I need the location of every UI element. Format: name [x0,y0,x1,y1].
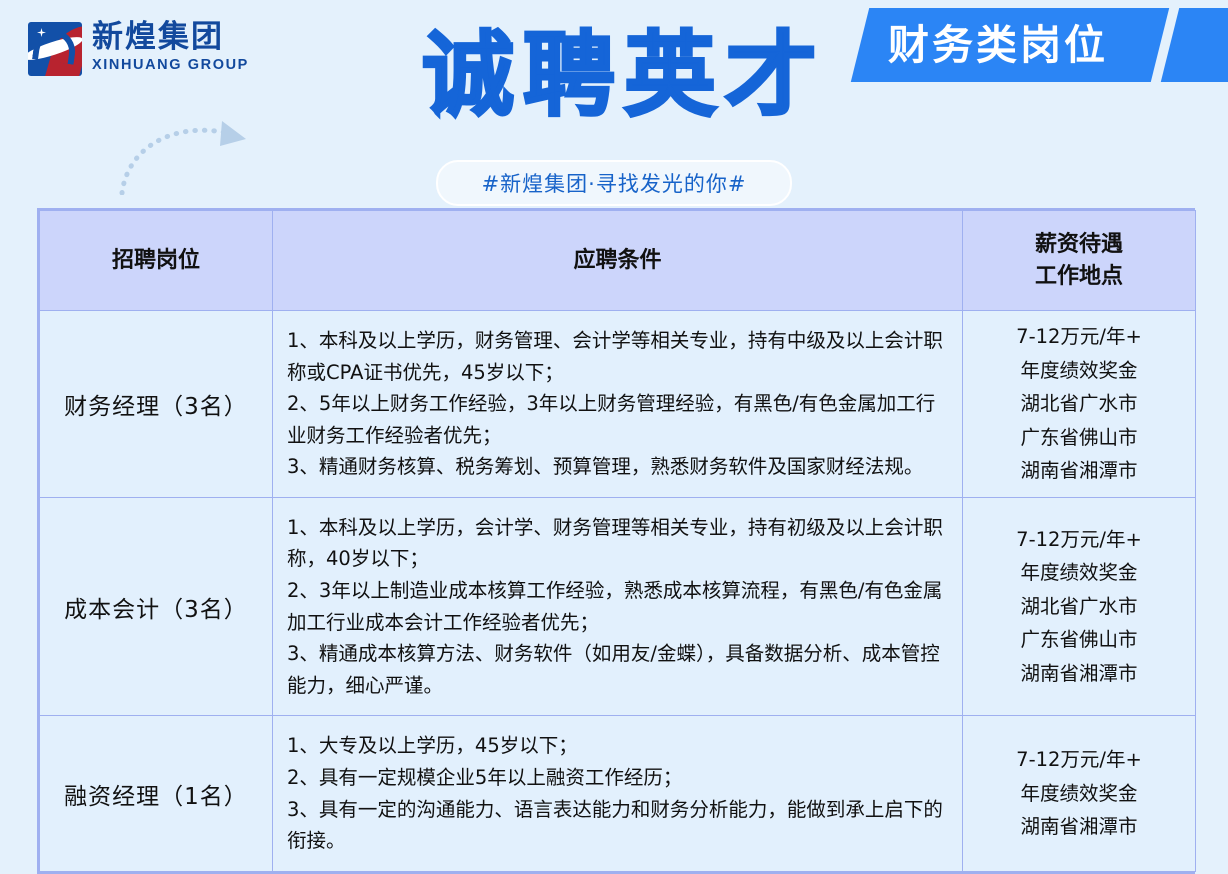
jobs-table-body: 财务经理（3名） 1、本科及以上学历，财务管理、会计学等相关专业，持有中级及以上… [40,311,1196,872]
condition-line: 3、精通财务核算、税务筹划、预算管理，熟悉财务软件及国家财经法规。 [287,451,950,483]
table-row: 财务经理（3名） 1、本科及以上学历，财务管理、会计学等相关专业，持有中级及以上… [40,311,1196,498]
header-salary-location: 薪资待遇 工作地点 [963,211,1196,311]
poster-header: 新煌集团 XINHUANG GROUP 财务类岗位 诚聘英才 #新煌集团·寻找发… [0,0,1228,205]
condition-line: 3、具有一定的沟通能力、语言表达能力和财务分析能力，能做到承上启下的衔接。 [287,794,950,857]
condition-line: 2、3年以上制造业成本核算工作经验，熟悉成本核算流程，有黑色/有色金属加工行业成… [287,575,950,638]
page-title-text: 诚聘英才 [422,28,826,125]
salary-line: 年度绩效奖金 [964,354,1194,388]
header-conditions: 应聘条件 [273,211,963,311]
condition-line: 1、大专及以上学历，45岁以下； [287,730,950,762]
header-post: 招聘岗位 [40,211,273,311]
salary-line: 7-12万元/年+ [964,320,1194,354]
condition-line: 1、本科及以上学历，会计学、财务管理等相关专业，持有初级及以上会计职称，40岁以… [287,512,950,575]
row-conditions: 1、本科及以上学历，会计学、财务管理等相关专业，持有初级及以上会计职称，40岁以… [273,497,963,715]
row-conditions: 1、大专及以上学历，45岁以下； 2、具有一定规模企业5年以上融资工作经历； 3… [273,716,963,871]
location-line: 广东省佛山市 [964,421,1194,455]
condition-line: 2、具有一定规模企业5年以上融资工作经历； [287,762,950,794]
row-conditions: 1、本科及以上学历，财务管理、会计学等相关专业，持有中级及以上会计职称或CPA证… [273,311,963,498]
table-header-row: 招聘岗位 应聘条件 薪资待遇 工作地点 [40,211,1196,311]
table-row: 融资经理（1名） 1、大专及以上学历，45岁以下； 2、具有一定规模企业5年以上… [40,716,1196,871]
row-salary-location: 7-12万元/年+ 年度绩效奖金 湖北省广水市 广东省佛山市 湖南省湘潭市 [963,311,1196,498]
location-line: 湖南省湘潭市 [964,657,1194,691]
location-line: 湖南省湘潭市 [964,454,1194,488]
table-row: 成本会计（3名） 1、本科及以上学历，会计学、财务管理等相关专业，持有初级及以上… [40,497,1196,715]
header-salary-line2: 工作地点 [1035,264,1123,289]
condition-line: 3、精通成本核算方法、财务软件（如用友/金蝶），具备数据分析、成本管控能力，细心… [287,638,950,701]
page-title: 诚聘英才 [0,28,1228,125]
row-post: 融资经理（1名） [40,716,273,871]
jobs-table-wrapper: 招聘岗位 应聘条件 薪资待遇 工作地点 财务经理（3名） 1、本科及以上学历，财… [37,208,1195,874]
header-salary-line1: 薪资待遇 [1035,232,1123,257]
row-post: 财务经理（3名） [40,311,273,498]
row-salary-location: 7-12万元/年+ 年度绩效奖金 湖南省湘潭市 [963,716,1196,871]
location-line: 湖南省湘潭市 [964,810,1194,844]
location-line: 湖北省广水市 [964,590,1194,624]
salary-line: 年度绩效奖金 [964,556,1194,590]
condition-line: 2、5年以上财务工作经验，3年以上财务管理经验，有黑色/有色金属加工行业财务工作… [287,388,950,451]
subtitle-pill-wrap: #新煌集团·寻找发光的你# [0,160,1228,206]
jobs-table: 招聘岗位 应聘条件 薪资待遇 工作地点 财务经理（3名） 1、本科及以上学历，财… [39,210,1196,872]
salary-line: 7-12万元/年+ [964,523,1194,557]
salary-line: 年度绩效奖金 [964,777,1194,811]
location-line: 广东省佛山市 [964,623,1194,657]
subtitle-pill: #新煌集团·寻找发光的你# [436,160,793,206]
condition-line: 1、本科及以上学历，财务管理、会计学等相关专业，持有中级及以上会计职称或CPA证… [287,325,950,388]
row-post: 成本会计（3名） [40,497,273,715]
location-line: 湖北省广水市 [964,387,1194,421]
salary-line: 7-12万元/年+ [964,743,1194,777]
row-salary-location: 7-12万元/年+ 年度绩效奖金 湖北省广水市 广东省佛山市 湖南省湘潭市 [963,497,1196,715]
